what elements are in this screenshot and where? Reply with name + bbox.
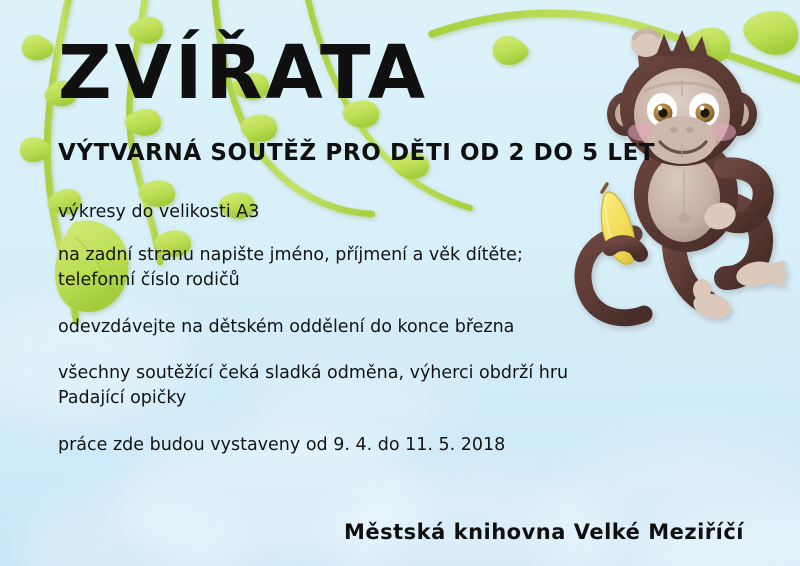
body-paragraph-prize: všechny soutěžící čeká sladká odměna, vý… [58,361,586,411]
leaf [241,114,278,141]
leaf [687,28,731,64]
monkey-leg-front [674,232,706,302]
monkey-blush-right [708,123,736,141]
cloud-wisp [330,470,610,566]
monkey-hand [631,31,661,57]
monkey-muzzle [648,116,716,164]
monkey-eye-right [689,93,719,127]
monkey-belly [648,154,720,242]
poster: ZVÍŘATA VÝTVARNÁ SOUTĚŽ PRO DĚTI OD 2 DO… [0,0,800,566]
vine-top-horizontal [432,11,800,82]
monkey-ear-left [607,92,645,136]
leaf [743,11,798,55]
monkey-tail [583,234,644,318]
banana [601,184,635,264]
monkey-foot-front [691,279,734,322]
body-paragraph-exhibition: práce zde budou vystaveny od 9. 4. do 11… [58,433,586,458]
page-subtitle: VÝTVARNÁ SOUTĚŽ PRO DĚTI OD 2 DO 5 LET [58,142,655,165]
monkey-illustration [560,18,800,348]
monkey-hand-hip [701,198,740,233]
monkey-hair [656,30,708,58]
body-paragraph-back-line2: telefonní číslo rodičů [58,268,586,293]
leaf [493,36,529,65]
page-title: ZVÍŘATA [58,36,428,110]
monkey-eye-left [647,93,677,127]
leaf [22,35,54,61]
cloud-wisp [540,440,800,566]
monkey-leg-back [718,202,761,278]
monkey-foot-back [734,258,784,290]
monkey-arm-up [648,56,668,138]
monkey-ear-right [719,92,757,136]
cloud-wisp [20,500,240,566]
monkey-smile [660,142,706,153]
leaf [20,137,51,162]
body-paragraph-submit: odevzdávejte na dětském oddělení do konc… [58,315,586,340]
poster-body: výkresy do velikosti A3 na zadní stranu … [58,200,586,458]
organization-signature: Městská knihovna Velké Meziříčí [344,520,744,544]
body-paragraph-back-line1: na zadní stranu napište jméno, příjmení … [58,243,586,268]
body-paragraph-size: výkresy do velikosti A3 [58,200,586,225]
monkey-arm-hip [724,168,763,223]
monkey-blush-left [628,123,656,141]
